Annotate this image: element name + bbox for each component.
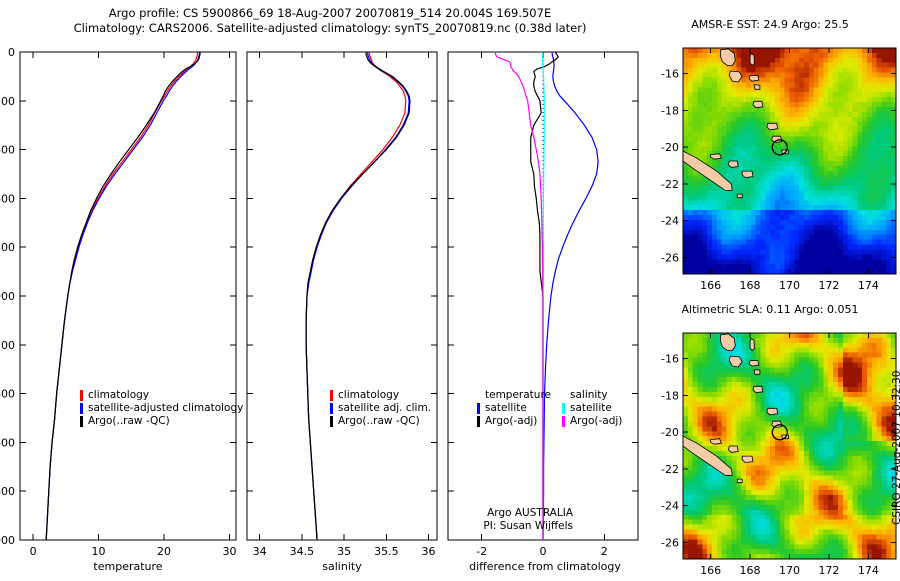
legend-label: satellite (485, 402, 527, 415)
credit-block: Argo AUSTRALIA PI: Susan Wijffels (483, 507, 573, 533)
map-ytick-label: -24 (661, 500, 679, 513)
ytick-label: 1200 (0, 339, 15, 352)
credit-pi: PI: Susan Wijffels (483, 520, 573, 533)
legend-label: Argo(-adj) (570, 415, 622, 428)
legend-item: Argo(-adj) (477, 415, 551, 428)
legend-label: satellite-adjusted climatology (88, 402, 243, 415)
map-ytick-label: -18 (661, 389, 679, 402)
legend-item: climatology (330, 389, 431, 402)
island-polygon (750, 339, 754, 351)
map-ytick-label: -20 (661, 141, 679, 154)
map-ytick-label: -22 (661, 178, 679, 191)
legend-difference-temperature: temperature satellite Argo(-adj) (477, 389, 551, 428)
xtick-label: 2 (601, 545, 608, 558)
ytick-label: 1000 (0, 290, 15, 303)
legend-item: satellite adj. clim. (330, 402, 431, 415)
island-polygon (753, 386, 763, 392)
map-altimetric-sla[interactable]: 166168170172174-16-18-20-22-24-26 (645, 319, 900, 581)
legend-label: Argo(..raw -QC) (88, 415, 170, 428)
legend-group-header: temperature (477, 389, 551, 402)
map-xtick-label: 168 (740, 279, 761, 292)
xtick-label: 35 (337, 545, 351, 558)
map-xtick-label: 172 (818, 564, 839, 577)
legend-group-header: salinity (562, 389, 622, 402)
legend-label: climatology (88, 389, 149, 402)
xtick-label: 30 (222, 545, 236, 558)
ytick-label: 400 (0, 144, 15, 157)
island-polygon (754, 370, 760, 375)
island-polygon (737, 194, 742, 198)
legend-item: Argo(..raw -QC) (330, 415, 431, 428)
map-ytick-label: -16 (661, 68, 679, 81)
legend-label: satellite (570, 402, 612, 415)
legend-swatch-salinity-argo (562, 416, 565, 427)
xtick-label: 0 (30, 545, 37, 558)
island-polygon (749, 76, 759, 82)
axis-label-temperature: temperature (20, 560, 236, 573)
xtick-label: 34.5 (290, 545, 315, 558)
xtick-label: 35.5 (374, 545, 399, 558)
map-title-sst: AMSR-E SST: 24.9 Argo: 25.5 (645, 18, 895, 31)
axis-label-salinity: salinity (247, 560, 437, 573)
ytick-label: 1400 (0, 388, 15, 401)
island-polygon (711, 439, 722, 445)
legend-item: Argo(..raw -QC) (80, 415, 243, 428)
map-xtick-label: 170 (779, 564, 800, 577)
legend-item: satellite (477, 402, 551, 415)
island-polygon (728, 446, 738, 452)
island-polygon (754, 85, 760, 90)
panel-salinity: 3434.53535.536 (247, 52, 437, 558)
map-ytick-label: -24 (661, 215, 679, 228)
island-polygon (728, 161, 738, 167)
legend-swatch-satellite (477, 403, 480, 414)
map-ytick-label: -26 (661, 536, 679, 549)
legend-label: climatology (338, 389, 399, 402)
xtick-label: 36 (422, 545, 436, 558)
map-ytick-label: -16 (661, 353, 679, 366)
map-title-sla: Altimetric SLA: 0.11 Argo: 0.051 (645, 303, 895, 316)
legend-swatch-satellite (80, 403, 83, 414)
map-xtick-label: 174 (858, 564, 879, 577)
island-polygon (737, 479, 742, 483)
profile-plots: 0102030020040060080010001200140016001800… (0, 0, 660, 580)
xtick-label: 0 (540, 545, 547, 558)
legend-salinity: climatology satellite adj. clim. Argo(..… (330, 389, 431, 428)
legend-swatch-salinity-satellite (562, 403, 565, 414)
legend-swatch-climatology (330, 390, 333, 401)
legend-swatch-climatology (80, 390, 83, 401)
island-polygon (749, 361, 759, 367)
island-polygon (711, 154, 722, 160)
map-xtick-label: 166 (700, 564, 721, 577)
map-field (669, 48, 896, 275)
legend-item: satellite-adjusted climatology (80, 402, 243, 415)
island-polygon (742, 456, 753, 462)
island-polygon (767, 123, 778, 130)
legend-item: climatology (80, 389, 243, 402)
map-ytick-label: -18 (661, 104, 679, 117)
ytick-label: 0 (8, 46, 15, 59)
legend-swatch-argo (477, 416, 480, 427)
island-polygon (753, 101, 763, 107)
legend-swatch-argo (330, 416, 333, 427)
ytick-label: 1800 (0, 485, 15, 498)
map-xtick-label: 172 (818, 279, 839, 292)
island-polygon (767, 408, 778, 415)
csiro-timestamp: CSIRO 27-Aug-2007 10:32:30 (891, 371, 900, 525)
xtick-label: 20 (157, 545, 171, 558)
map-field (669, 333, 896, 560)
map-ytick-label: -26 (661, 251, 679, 264)
legend-label: Argo(-adj) (485, 415, 537, 428)
ytick-label: 200 (0, 95, 15, 108)
legend-difference-salinity: salinity satellite Argo(-adj) (562, 389, 622, 428)
ytick-label: 800 (0, 241, 15, 254)
map-amsre-sst[interactable]: 166168170172174-16-18-20-22-24-26 (645, 34, 900, 296)
legend-item: Argo(-adj) (562, 415, 622, 428)
island-polygon (742, 171, 753, 177)
map-xtick-label: 168 (740, 564, 761, 577)
legend-item: satellite (562, 402, 622, 415)
legend-swatch-argo (80, 416, 83, 427)
axis-label-difference: difference from climatology (445, 560, 645, 573)
legend-swatch-satellite (330, 403, 333, 414)
ytick-label: 600 (0, 192, 15, 205)
island-polygon (750, 54, 754, 66)
legend-label: Argo(..raw -QC) (338, 415, 420, 428)
xtick-label: -2 (476, 545, 487, 558)
map-xtick-label: 174 (858, 279, 879, 292)
map-xtick-label: 166 (700, 279, 721, 292)
legend-label: satellite adj. clim. (338, 402, 431, 415)
xtick-label: 34 (253, 545, 267, 558)
legend-temperature: climatology satellite-adjusted climatolo… (80, 389, 243, 428)
map-xtick-label: 170 (779, 279, 800, 292)
map-ytick-label: -20 (661, 426, 679, 439)
map-ytick-label: -22 (661, 463, 679, 476)
ytick-label: 1600 (0, 436, 15, 449)
credit-organisation: Argo AUSTRALIA (483, 507, 573, 520)
ytick-label: 2000 (0, 534, 15, 547)
xtick-label: 10 (92, 545, 106, 558)
panel-temperature: 0102030020040060080010001200140016001800… (0, 46, 236, 558)
